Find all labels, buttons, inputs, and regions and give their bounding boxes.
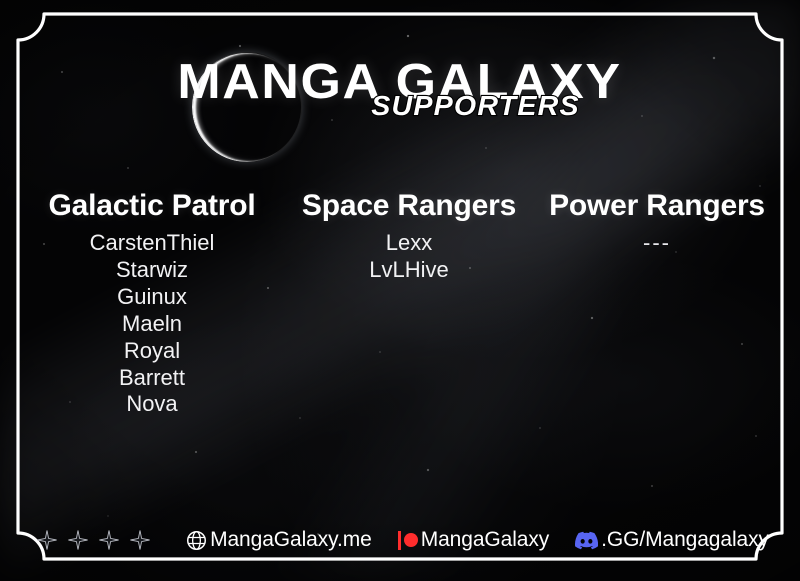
supporter-name: Barrett (19, 365, 285, 392)
footer-bar: MangaGalaxy.me MangaGalaxy .GG/Mangagala… (0, 522, 800, 558)
supporter-name: Royal (19, 338, 285, 365)
footer-link-discord[interactable]: .GG/Mangagalaxy (575, 528, 769, 552)
tier-name-list: --- (533, 230, 781, 257)
brand-subtitle: SUPPORTERS (0, 90, 800, 122)
sparkle-decoration (37, 530, 150, 550)
supporters-card: MANGA GALAXY SUPPORTERS Galactic Patrol … (0, 0, 800, 581)
logo-block: MANGA GALAXY SUPPORTERS (0, 28, 800, 148)
sparkle-icon (68, 530, 88, 550)
patreon-dot (404, 533, 418, 547)
sparkle-icon (37, 530, 57, 550)
tier-columns: Galactic Patrol CarstenThiel Starwiz Gui… (22, 190, 778, 418)
globe-icon (186, 530, 207, 551)
supporter-name: LvLHive (285, 257, 533, 284)
supporter-name: Lexx (285, 230, 533, 257)
footer-link-label: MangaGalaxy.me (210, 528, 372, 552)
patreon-bar (398, 531, 402, 550)
supporter-name: Guinux (19, 284, 285, 311)
footer-link-label: .GG/Mangagalaxy (601, 528, 769, 552)
footer-link-label: MangaGalaxy (421, 528, 549, 552)
sparkle-icon (130, 530, 150, 550)
tier-column-galactic-patrol: Galactic Patrol CarstenThiel Starwiz Gui… (19, 190, 285, 418)
patreon-icon (398, 531, 418, 550)
footer-link-website[interactable]: MangaGalaxy.me (186, 528, 372, 552)
tier-title: Power Rangers (533, 190, 781, 222)
supporter-name: Starwiz (19, 257, 285, 284)
tier-title: Space Rangers (285, 190, 533, 222)
supporter-name: Nova (19, 391, 285, 418)
supporter-name: Maeln (19, 311, 285, 338)
tier-name-list: Lexx LvLHive (285, 230, 533, 284)
sparkle-icon (99, 530, 119, 550)
tier-column-power-rangers: Power Rangers --- (533, 190, 781, 257)
supporter-name: CarstenThiel (19, 230, 285, 257)
wordmark: MANGA GALAXY SUPPORTERS (0, 28, 800, 107)
footer-link-patreon[interactable]: MangaGalaxy (398, 528, 549, 552)
tier-column-space-rangers: Space Rangers Lexx LvLHive (285, 190, 533, 284)
tier-name-list: CarstenThiel Starwiz Guinux Maeln Royal … (19, 230, 285, 418)
tier-title: Galactic Patrol (19, 190, 285, 222)
supporter-name-placeholder: --- (533, 230, 781, 257)
discord-icon (575, 529, 598, 552)
